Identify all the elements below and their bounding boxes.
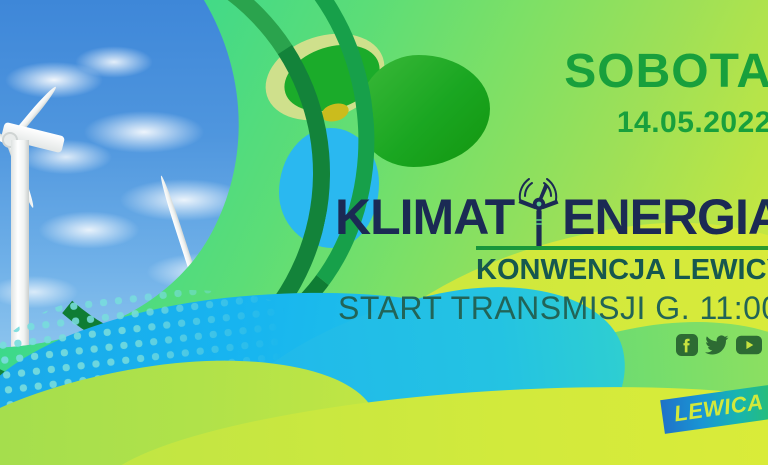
page-title: KLIMAT: [335, 186, 768, 248]
broadcast-time: START TRANSMISJI G. 11:00: [338, 292, 768, 326]
title-divider-rule: [476, 246, 768, 250]
twitter-icon[interactable]: [705, 334, 729, 356]
facebook-icon[interactable]: [676, 334, 698, 356]
wind-turbine-icon: [515, 186, 561, 248]
lewica-logo[interactable]: LEWICA: [660, 384, 768, 434]
youtube-icon[interactable]: [736, 335, 762, 355]
date-value: 14.05.2022: [617, 108, 768, 138]
title-part-energia: ENERGIA: [562, 192, 768, 242]
subtitle: KONWENCJA LEWICY: [476, 255, 768, 285]
social-links: [676, 334, 762, 356]
lewica-logo-text: LEWICA: [672, 389, 764, 426]
title-part-klimat: KLIMAT: [335, 192, 514, 242]
event-banner: SOBOTA 14.05.2022 KLIMAT: [0, 0, 768, 465]
date-heading: SOBOTA: [564, 48, 768, 96]
banner-content: SOBOTA 14.05.2022 KLIMAT: [0, 0, 768, 465]
